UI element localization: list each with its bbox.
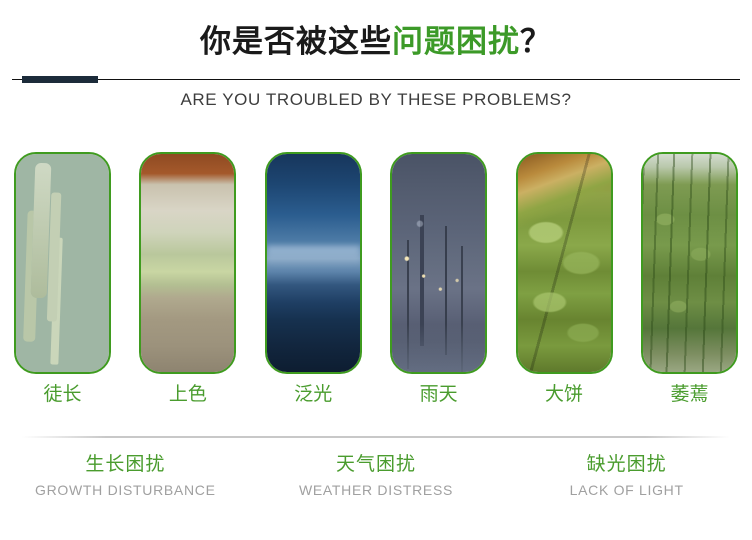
category-title-cn: 生长困扰 (0, 452, 251, 478)
card-caption: 徒长 (14, 382, 111, 410)
rainy-night-street-lamps-photo (392, 154, 485, 372)
flat-wet-broad-leaves-photo (518, 154, 611, 372)
header-section: 你是否被这些问题困扰？ ARE YOU TROUBLED BY THESE PR… (0, 0, 752, 130)
category-title-cn: 天气困扰 (251, 452, 502, 478)
greenhouse-climbing-plants-photo (643, 154, 736, 372)
category-title-en: GROWTH DISTURBANCE (0, 481, 251, 500)
problem-card[interactable] (390, 152, 487, 374)
poster-page: 你是否被这些问题困扰？ ARE YOU TROUBLED BY THESE PR… (0, 0, 752, 540)
problem-card[interactable] (265, 152, 362, 374)
category-group: 生长困扰 GROWTH DISTURBANCE (0, 452, 251, 514)
category-group-row: 生长困扰 GROWTH DISTURBANCE 天气困扰 WEATHER DIS… (0, 452, 752, 514)
problem-card[interactable] (139, 152, 236, 374)
page-title-question-mark: ？ (520, 24, 552, 59)
category-title-en: LACK OF LIGHT (501, 481, 752, 500)
problem-card[interactable] (516, 152, 613, 374)
divider-accent-block (22, 76, 98, 83)
page-title-prefix: 你是否被这些 (200, 24, 392, 59)
problem-card[interactable] (14, 152, 111, 374)
card-caption: 泛光 (265, 382, 362, 410)
card-caption: 萎蔫 (641, 382, 738, 410)
problem-caption-row: 徒长 上色 泛光 雨天 大饼 萎蔫 (14, 382, 738, 410)
title-divider (12, 76, 740, 83)
card-caption: 大饼 (516, 382, 613, 410)
page-subtitle: ARE YOU TROUBLED BY THESE PROBLEMS? (0, 89, 752, 111)
problem-card[interactable] (641, 152, 738, 374)
section-divider (22, 436, 730, 438)
page-title: 你是否被这些问题困扰？ (0, 22, 752, 62)
problem-card-row (14, 152, 738, 374)
category-group: 天气困扰 WEATHER DISTRESS (251, 452, 502, 514)
page-title-highlight: 问题困扰 (392, 24, 520, 59)
pale-succulents-on-pebbles-photo (141, 154, 234, 372)
divider-thin-line (12, 79, 740, 80)
blue-dusk-sky-over-water-photo (267, 154, 360, 372)
etiolated-succulent-in-pot-photo (16, 154, 109, 372)
category-title-cn: 缺光困扰 (501, 452, 752, 478)
category-group: 缺光困扰 LACK OF LIGHT (501, 452, 752, 514)
category-title-en: WEATHER DISTRESS (251, 481, 502, 500)
card-caption: 雨天 (390, 382, 487, 410)
card-caption: 上色 (139, 382, 236, 410)
